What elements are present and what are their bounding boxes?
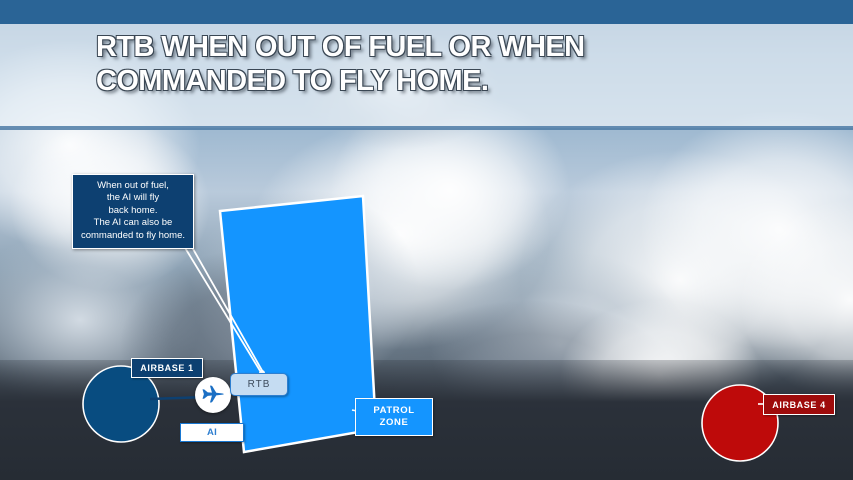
label-patrol-zone[interactable]: PATROL ZONE: [355, 398, 433, 436]
label-ai-text: AI: [207, 427, 217, 438]
callout-line-5: commanded to fly home.: [77, 230, 189, 242]
label-patrol-zone-line-1: PATROL: [373, 405, 414, 417]
label-airbase-4-text: AIRBASE 4: [772, 400, 825, 410]
callout-line-1: When out of fuel,: [77, 180, 189, 192]
label-patrol-zone-line-2: ZONE: [380, 417, 409, 429]
callout-line-3: back home.: [77, 205, 189, 217]
callout-box: When out of fuel, the AI will fly back h…: [72, 174, 194, 249]
aircraft-badge[interactable]: [195, 377, 231, 413]
callout-line-2: the AI will fly: [77, 192, 189, 204]
callout-line-4: The AI can also be: [77, 217, 189, 229]
patrol-zone-polygon[interactable]: [220, 196, 376, 452]
label-airbase-1[interactable]: AIRBASE 1: [131, 358, 203, 378]
label-rtb-text: RTB: [248, 379, 271, 390]
label-airbase-4[interactable]: AIRBASE 4: [763, 394, 835, 415]
slide-canvas: RTB WHEN OUT OF FUEL OR WHEN COMMANDED T…: [0, 0, 853, 480]
label-rtb[interactable]: RTB: [230, 373, 288, 396]
label-ai[interactable]: AI: [180, 423, 244, 442]
label-airbase-1-text: AIRBASE 1: [140, 363, 193, 373]
fighter-jet-icon: [199, 381, 227, 409]
